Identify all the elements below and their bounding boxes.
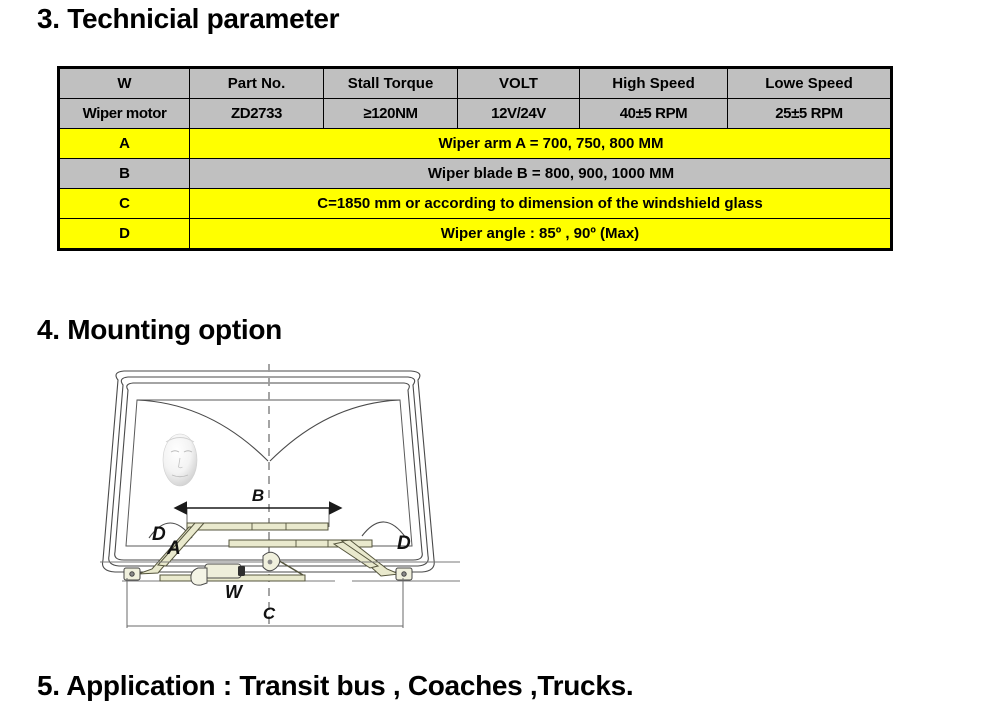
d-right-label: D: [397, 533, 411, 554]
cell-high-speed: 40±5 RPM: [580, 99, 728, 129]
cell-description-d: Wiper angle : 85º , 90º (Max): [190, 219, 892, 250]
wipe-arc-left: [137, 400, 268, 461]
table-row-wiper-motor: Wiper motor ZD2733 ≥120NM 12V/24V 40±5 R…: [59, 99, 892, 129]
w-motor-label: W: [225, 582, 244, 602]
cell-label-b: B: [59, 159, 190, 189]
cell-lowe-speed: 25±5 RPM: [728, 99, 892, 129]
a-arm-label: A: [166, 538, 181, 559]
table-header-cell-volt: VOLT: [458, 68, 580, 99]
table-header-cell-part-no: Part No.: [190, 68, 324, 99]
technical-parameter-table-container: W Part No. Stall Torque VOLT High Speed …: [57, 66, 890, 251]
linkage-assembly: [160, 552, 305, 585]
mounting-option-diagram: B: [100, 360, 460, 655]
table-row-a: A Wiper arm A = 700, 750, 800 MM: [59, 129, 892, 159]
technical-parameter-table: W Part No. Stall Torque VOLT High Speed …: [57, 66, 893, 251]
wipe-arc-right: [270, 400, 400, 461]
wiper-motor-gearbox: [191, 568, 207, 585]
table-header-row: W Part No. Stall Torque VOLT High Speed …: [59, 68, 892, 99]
b-dimension-group: B: [187, 486, 329, 527]
table-row-b: B Wiper blade B = 800, 900, 1000 MM: [59, 159, 892, 189]
cell-stall-torque: ≥120NM: [324, 99, 458, 129]
table-header-cell-lowe-speed: Lowe Speed: [728, 68, 892, 99]
wiper-motor-body: [205, 564, 241, 578]
cell-description-c: C=1850 mm or according to dimension of t…: [190, 189, 892, 219]
cell-description-b: Wiper blade B = 800, 900, 1000 MM: [190, 159, 892, 189]
b-dimension-label: B: [252, 486, 264, 505]
section-heading-technical-parameter: 3. Technicial parameter: [37, 3, 339, 35]
cell-volt: 12V/24V: [458, 99, 580, 129]
section-heading-mounting-option: 4. Mounting option: [37, 314, 282, 346]
wiper-blade-left: [187, 523, 328, 530]
driver-head-icon: [163, 434, 197, 486]
wiper-motor-cap: [238, 566, 245, 576]
cell-label-a: A: [59, 129, 190, 159]
cell-wiper-motor: Wiper motor: [59, 99, 190, 129]
c-dimension-label: C: [263, 604, 276, 623]
cell-part-number: ZD2733: [190, 99, 324, 129]
cell-label-c: C: [59, 189, 190, 219]
d-left-label: D: [152, 524, 166, 545]
table-row-c: C C=1850 mm or according to dimension of…: [59, 189, 892, 219]
table-header-cell-high-speed: High Speed: [580, 68, 728, 99]
cell-description-a: Wiper arm A = 700, 750, 800 MM: [190, 129, 892, 159]
cell-label-d: D: [59, 219, 190, 250]
table-header-cell-stall-torque: Stall Torque: [324, 68, 458, 99]
table-row-d: D Wiper angle : 85º , 90º (Max): [59, 219, 892, 250]
section-heading-application: 5. Application : Transit bus , Coaches ,…: [37, 670, 633, 702]
table-header-cell-w: W: [59, 68, 190, 99]
